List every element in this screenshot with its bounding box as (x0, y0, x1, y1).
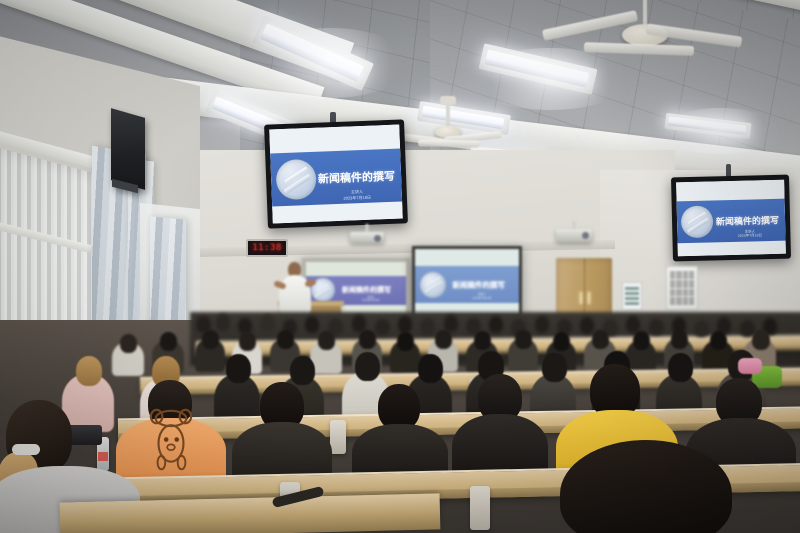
slide-right-tv: 新闻稿件的撰写 主讲人 2023年7月18日 (676, 180, 786, 257)
slide-title: 新闻稿件的撰写 (318, 168, 396, 187)
slide-subtitle: 主讲人 2023年7月18日 (362, 296, 380, 303)
hair-tie (12, 444, 40, 455)
cartoon-print-icon (137, 405, 205, 472)
student-foreground-back-of-head (540, 440, 750, 533)
student-dark-grey-tee (452, 386, 548, 482)
slide-subtitle-date: 2023年7月18日 (738, 234, 762, 239)
wall-tv-right: 新闻稿件的撰写 主讲人 2023年7月18日 (671, 175, 791, 262)
lecture-hall-photo: 11:38 新闻稿件的撰写 主讲人 2023年7月18日 (0, 0, 800, 533)
slide-logo-icon (420, 272, 446, 298)
slide-title: 新闻稿件的撰写 (342, 285, 391, 295)
slide-subtitle-date: 2023年7月18日 (472, 297, 491, 301)
slide-title: 新闻稿件的撰写 (716, 213, 779, 228)
ceiling-projector (556, 229, 592, 242)
clock-time: 11:38 (252, 243, 282, 253)
ceiling-fan (560, 0, 730, 76)
wall-tv-left: 新闻稿件的撰写 主讲人 2023年7月18日 (264, 119, 408, 228)
slide-subtitle: 主讲人 2023年7月18日 (343, 189, 371, 201)
slide-title: 新闻稿件的撰写 (452, 279, 505, 290)
desk-side-panel (470, 486, 490, 530)
slide-subtitle: 主讲人 2023年7月18日 (738, 229, 762, 239)
wall-speaker (111, 108, 145, 190)
presenter (278, 262, 312, 314)
ceiling-projector (350, 232, 384, 243)
slide-left-tv: 新闻稿件的撰写 主讲人 2023年7月18日 (269, 125, 403, 224)
student-black-tee (352, 392, 448, 482)
slide-subtitle: 主讲人 2023年7月18日 (472, 293, 491, 301)
slide-projection-right: 新闻稿件的撰写 主讲人 2023年7月18日 (415, 249, 519, 315)
digital-wall-clock: 11:38 (246, 239, 288, 257)
ceiling-fan (400, 96, 496, 148)
pink-item (738, 358, 762, 374)
wall-notice-board (666, 266, 698, 310)
desk-side-panel (330, 420, 346, 454)
slide-logo-icon (681, 205, 714, 238)
student-dark-tee (232, 392, 332, 484)
slide-logo-icon (276, 159, 318, 201)
emergency-evacuation-sign (622, 282, 642, 310)
projection-screen-right: 新闻稿件的撰写 主讲人 2023年7月18日 (412, 246, 522, 318)
slide-subtitle-date: 2023年7月18日 (362, 299, 380, 303)
slide-subtitle-date: 2023年7月18日 (343, 194, 371, 200)
